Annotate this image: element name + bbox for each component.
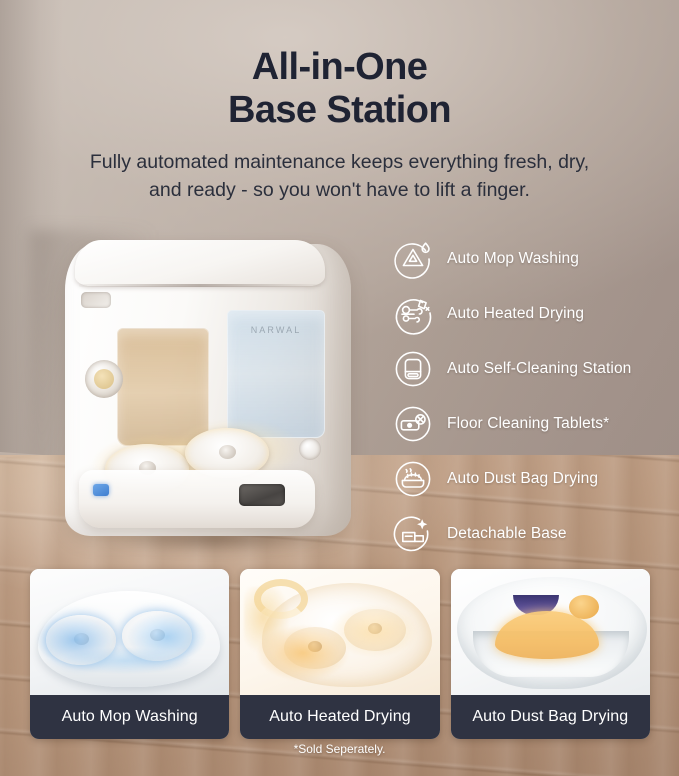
detachable-base-icon	[392, 513, 434, 555]
panel-caption: Auto Dust Bag Drying	[451, 695, 650, 739]
feature-panel-row: Auto Mop Washing Auto Heated Drying	[30, 569, 650, 739]
dust-bag-icon	[392, 458, 434, 500]
water-drop-icon	[392, 238, 434, 280]
panel2-heat-glow	[244, 587, 439, 687]
station-lid	[75, 240, 325, 286]
subtitle-line-1: Fully automated maintenance keeps everyt…	[90, 151, 589, 173]
station-display-screen	[239, 484, 285, 506]
feature-row-detachable-base: Detachable Base	[392, 506, 677, 561]
station-vent	[81, 292, 111, 308]
title-line-1: All-in-One	[252, 46, 428, 88]
station-side-dial	[299, 438, 321, 460]
feature-label: Auto Self-Cleaning Station	[447, 360, 631, 378]
feature-row-auto-dust-bag-drying: Auto Dust Bag Drying	[392, 451, 677, 506]
feature-row-auto-heated-drying: Auto Heated Drying	[392, 286, 677, 341]
station-lid-seam	[79, 284, 321, 287]
panel3-air-nozzle	[569, 595, 599, 619]
feature-label: Auto Mop Washing	[447, 250, 579, 268]
feature-label: Detachable Base	[447, 525, 567, 543]
feature-label: Auto Dust Bag Drying	[447, 470, 598, 488]
panel-photo-dust-bag-drying	[451, 569, 650, 695]
panel-photo-mop-washing	[30, 569, 229, 695]
station-icon	[392, 348, 434, 390]
panel-auto-heated-drying: Auto Heated Drying	[240, 569, 439, 739]
product-image-base-station: NARWAL	[55, 232, 365, 554]
page-subtitle: Fully automated maintenance keeps everyt…	[0, 149, 679, 204]
footnote: *Sold Seperately.	[0, 742, 679, 756]
promo-image-canvas: All-in-One Base Station Fully automated …	[0, 0, 679, 776]
panel-photo-heated-drying	[240, 569, 439, 695]
panel-caption: Auto Heated Drying	[240, 695, 439, 739]
brand-label: NARWAL	[228, 325, 324, 335]
panel-auto-mop-washing: Auto Mop Washing	[30, 569, 229, 739]
feature-list: Auto Mop Washing Auto Heated Drying	[392, 231, 677, 561]
page-title: All-in-One Base Station	[0, 46, 679, 131]
feature-label: Floor Cleaning Tablets*	[447, 415, 609, 433]
hose-connector-knob	[85, 360, 123, 398]
title-line-2: Base Station	[0, 89, 679, 132]
feature-row-auto-self-cleaning-station: Auto Self-Cleaning Station	[392, 341, 677, 396]
panel1-water-splash	[34, 603, 224, 677]
feature-row-floor-cleaning-tablets: Floor Cleaning Tablets*	[392, 396, 677, 451]
subtitle-line-2: and ready - so you won't have to lift a …	[0, 177, 679, 205]
panel-caption: Auto Mop Washing	[30, 695, 229, 739]
feature-label: Auto Heated Drying	[447, 305, 584, 323]
hot-air-icon	[392, 293, 434, 335]
panel-auto-dust-bag-drying: Auto Dust Bag Drying	[451, 569, 650, 739]
feature-row-auto-mop-washing: Auto Mop Washing	[392, 231, 677, 286]
cleaning-tablet	[93, 484, 109, 496]
tablet-icon	[392, 403, 434, 445]
